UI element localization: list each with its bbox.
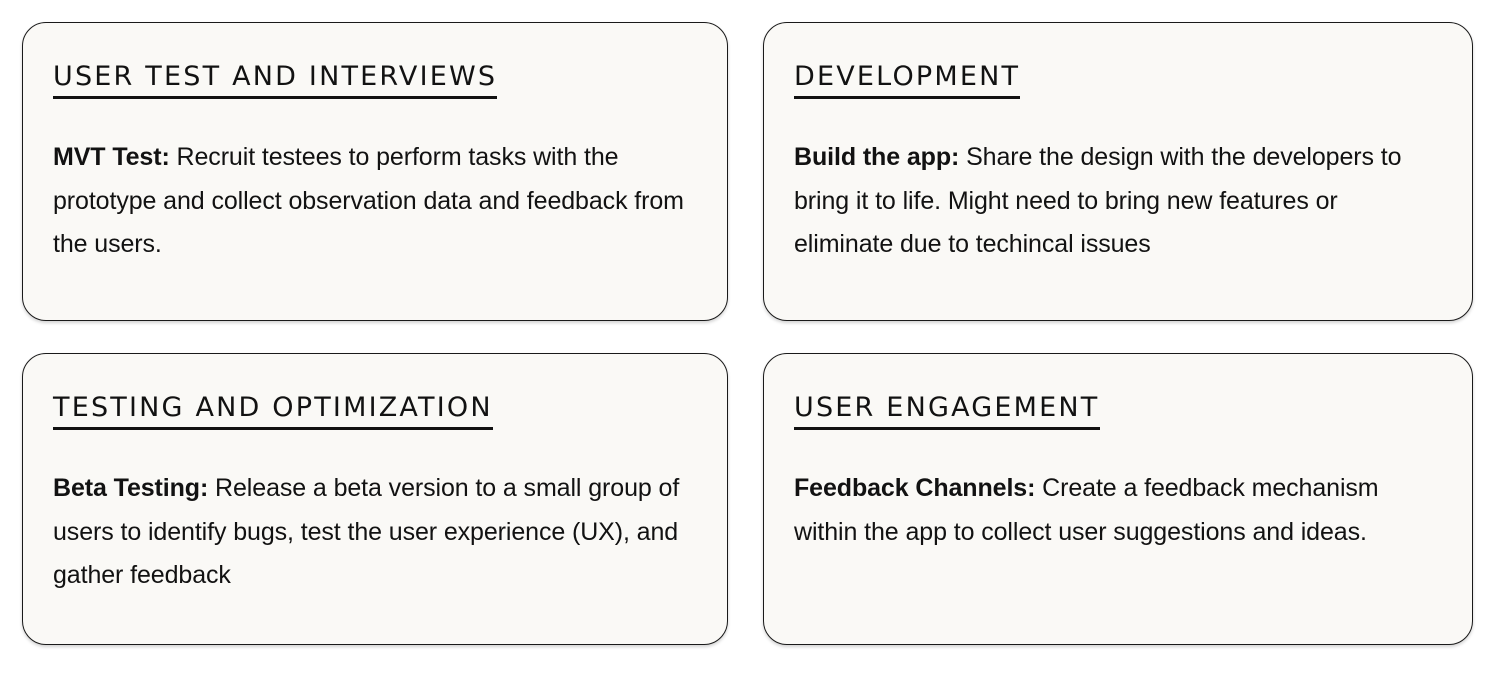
card-body: Feedback Channels: Create a feedback mec…: [794, 467, 1442, 554]
card-body-lead: Feedback Channels:: [794, 474, 1035, 502]
card-heading: USER ENGAGEMENT: [794, 394, 1100, 430]
card-body-lead: Beta Testing:: [53, 474, 208, 502]
card-user-engagement[interactable]: USER ENGAGEMENT Feedback Channels: Creat…: [763, 353, 1473, 645]
card-heading: TESTING AND OPTIMIZATION: [53, 394, 493, 430]
card-body: Build the app: Share the design with the…: [794, 136, 1442, 267]
card-user-test-and-interviews[interactable]: USER TEST AND INTERVIEWS MVT Test: Recru…: [22, 22, 728, 321]
card-body: Beta Testing: Release a beta version to …: [53, 467, 697, 598]
card-heading: USER TEST AND INTERVIEWS: [53, 63, 497, 99]
card-body-lead: MVT Test:: [53, 143, 170, 171]
card-testing-and-optimization[interactable]: TESTING AND OPTIMIZATION Beta Testing: R…: [22, 353, 728, 645]
card-grid: USER TEST AND INTERVIEWS MVT Test: Recru…: [0, 0, 1486, 674]
card-body-lead: Build the app:: [794, 143, 959, 171]
card-body: MVT Test: Recruit testees to perform tas…: [53, 136, 697, 267]
card-development[interactable]: DEVELOPMENT Build the app: Share the des…: [763, 22, 1473, 321]
card-heading: DEVELOPMENT: [794, 63, 1020, 99]
